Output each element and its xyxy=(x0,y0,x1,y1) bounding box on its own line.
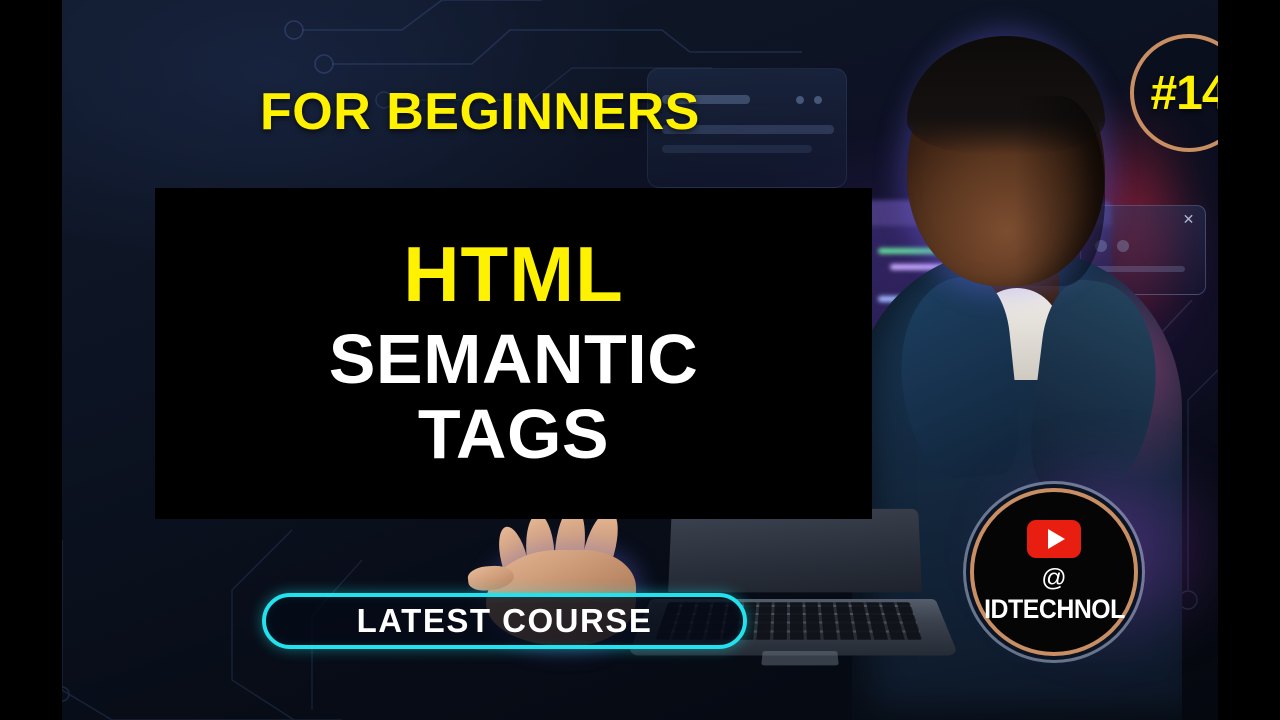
title-card: HTML SEMANTIC TAGS xyxy=(155,188,872,519)
youtube-thumbnail: ✕ xyxy=(0,0,1280,720)
play-triangle-icon xyxy=(1048,529,1065,549)
latest-course-label: LATEST COURSE xyxy=(357,602,653,640)
headline-for-beginners: FOR BEGINNERS xyxy=(260,82,700,142)
face-shadow xyxy=(1015,96,1105,286)
laptop-screen xyxy=(668,509,922,593)
card-content-line xyxy=(662,145,812,153)
laptop-trackpad xyxy=(761,651,838,665)
artwork-canvas: ✕ xyxy=(62,0,1218,720)
title-line-html: HTML xyxy=(403,235,624,315)
title-line-semantic: SEMANTIC xyxy=(329,323,699,397)
letterbox-right xyxy=(1218,0,1280,720)
youtube-play-icon xyxy=(1027,520,1081,558)
channel-handle-label: IDTECHNOL xyxy=(984,596,1125,623)
card-dot-icon xyxy=(796,96,804,104)
episode-number-label: #14 xyxy=(1150,66,1218,121)
letterbox-left xyxy=(0,0,62,720)
latest-course-badge[interactable]: LATEST COURSE xyxy=(262,593,747,649)
at-symbol: @ xyxy=(1041,566,1066,591)
card-dot-icon xyxy=(814,96,822,104)
channel-badge[interactable]: @ IDTECHNOL xyxy=(970,488,1138,656)
title-line-tags: TAGS xyxy=(418,398,609,472)
person-head xyxy=(907,36,1105,286)
